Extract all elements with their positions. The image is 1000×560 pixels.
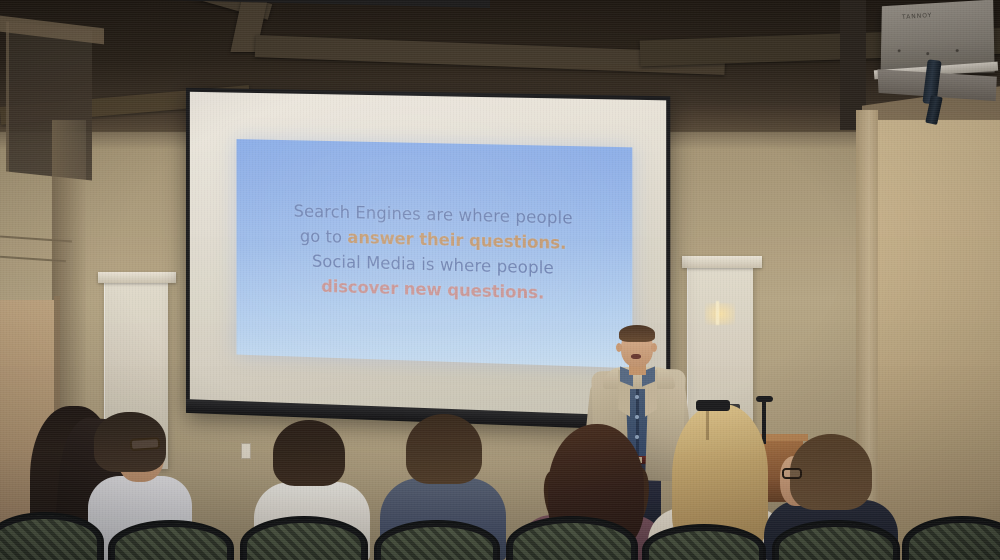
presenter-ear <box>616 343 622 352</box>
attendee-f-hair-clip <box>696 400 730 411</box>
presenter-ear <box>651 343 657 352</box>
slide-line-2-accent: answer their questions. <box>347 228 566 253</box>
presentation-room-photo: TANNOY Search Engines are where people g… <box>0 0 1000 560</box>
attendee-b-glasses <box>130 437 161 451</box>
microphone-icon <box>756 396 773 402</box>
slide-line-2-plain: go to <box>300 227 348 247</box>
window-shade-right-cap <box>682 256 762 268</box>
presenter-hair <box>619 325 655 342</box>
slide-line-4-accent: discover new questions. <box>321 277 544 303</box>
projected-slide: Search Engines are where people go to an… <box>237 139 633 368</box>
microphone-stand <box>762 400 766 444</box>
presenter-shirt-button <box>635 395 639 399</box>
presenter-shirt-button <box>635 415 639 419</box>
attendee-f-hair-part <box>706 406 709 440</box>
window-light-bar <box>716 301 719 325</box>
slide-text-block: Search Engines are where people go to an… <box>237 197 633 308</box>
wall-face-right <box>876 120 1000 560</box>
attendee-d-hair <box>406 414 482 484</box>
attendee-g-glasses <box>782 468 802 479</box>
presenter-mouth <box>631 354 641 359</box>
attendee-c-hair <box>273 420 345 486</box>
presenter-shirt-button <box>635 435 639 439</box>
wall-outlet <box>241 443 251 459</box>
window-light-glow <box>705 303 735 325</box>
attendee-g-hair <box>790 434 872 510</box>
window-shade-left-cap <box>98 272 176 283</box>
